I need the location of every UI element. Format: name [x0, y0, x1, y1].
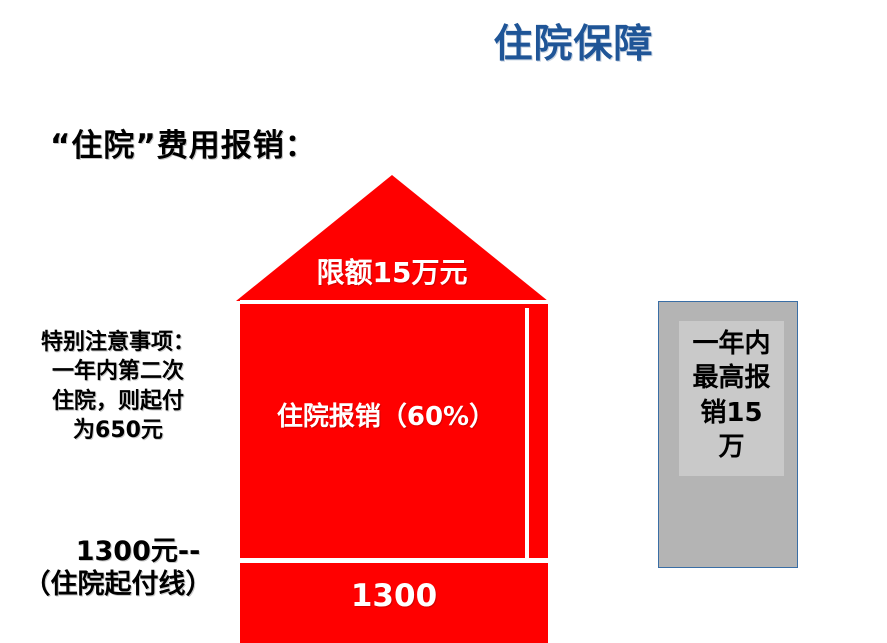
roof-triangle-icon — [236, 175, 548, 301]
special-note: 特别注意事项： 一年内第二次 住院，则起付 为650元 — [2, 328, 234, 446]
annual-cap-text: 一年内 最高报 销15 万 — [679, 327, 784, 464]
deductible-name: （住院起付线） — [0, 569, 236, 602]
house-body-vertical-divider — [525, 308, 529, 560]
annual-cap-line-1: 一年内 — [679, 327, 784, 361]
special-note-line-2: 一年内第二次 — [2, 357, 234, 386]
section-heading: “住院”费用报销： — [50, 120, 317, 165]
deductible-amount: 1300元-- — [0, 536, 236, 569]
annual-cap-line-3: 销15 — [679, 396, 784, 430]
annual-cap-line-4: 万 — [679, 430, 784, 464]
reimbursement-rate-label: 住院报销（60%） — [240, 396, 532, 433]
deductible-label: 1300元-- （住院起付线） — [0, 536, 236, 602]
house-body-shape — [240, 304, 548, 558]
annual-cap-line-2: 最高报 — [679, 361, 784, 395]
page-title-text: 住院保障 — [493, 24, 653, 67]
body-base-divider — [240, 558, 548, 563]
special-note-line-3: 住院，则起付 — [2, 387, 234, 416]
house-base-shape — [240, 563, 548, 643]
house-roof-shape — [236, 175, 548, 301]
slide-canvas: 住院保障 “住院”费用报销： 特别注意事项： 一年内第二次 住院，则起付 为65… — [0, 0, 887, 643]
special-note-line-4: 为650元 — [2, 416, 234, 445]
special-note-line-1: 特别注意事项： — [2, 328, 234, 357]
page-title: 住院保障 — [0, 24, 887, 67]
base-amount-label: 1300 — [240, 578, 548, 614]
roof-body-divider — [240, 300, 548, 304]
roof-limit-label: 限额15万元 — [236, 251, 548, 291]
